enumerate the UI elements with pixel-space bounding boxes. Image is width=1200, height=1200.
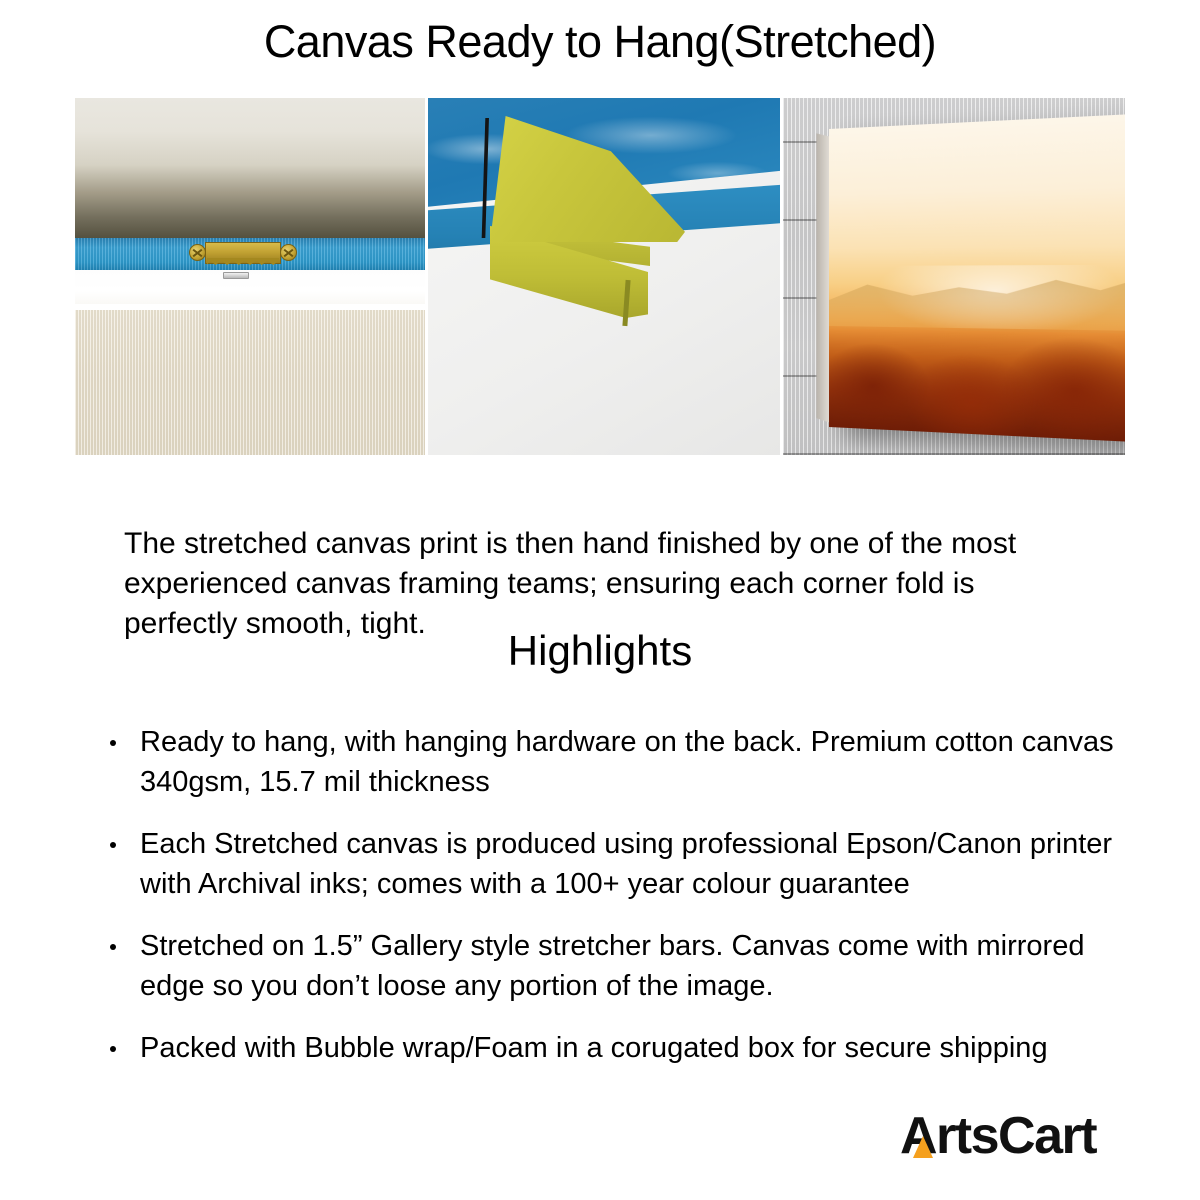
bullet-dot-icon xyxy=(110,842,116,848)
infographic-page: Canvas Ready to Hang(Stretched) xyxy=(0,0,1200,1200)
bullet-dot-icon xyxy=(110,1046,116,1052)
list-item-text: Packed with Bubble wrap/Foam in a coruga… xyxy=(140,1032,1048,1064)
bullet-dot-icon xyxy=(110,740,116,746)
list-item-text: Each Stretched canvas is produced using … xyxy=(140,828,1112,900)
artwork-foreground xyxy=(829,326,1125,442)
list-item: Packed with Bubble wrap/Foam in a coruga… xyxy=(104,1028,1114,1068)
triangle-accent-icon xyxy=(913,1136,933,1158)
hanging-hardware-photo xyxy=(75,98,425,455)
list-item-text: Ready to hang, with hanging hardware on … xyxy=(140,726,1114,798)
screw-icon-left xyxy=(189,244,206,261)
canvas-metal-clip xyxy=(223,272,249,279)
canvas-artwork-face xyxy=(829,114,1125,441)
sawtooth-hanger-icon xyxy=(187,240,299,267)
list-item: Stretched on 1.5” Gallery style stretche… xyxy=(104,926,1114,1006)
mounted-canvas xyxy=(829,114,1125,441)
canvas-back-surface xyxy=(75,310,425,455)
artwork-hills xyxy=(829,268,1125,333)
highlights-heading: Highlights xyxy=(0,627,1200,675)
highlights-list: Ready to hang, with hanging hardware on … xyxy=(104,722,1114,1090)
corner-fold-photo xyxy=(428,98,780,455)
list-item: Each Stretched canvas is produced using … xyxy=(104,824,1114,904)
screw-icon-right xyxy=(280,244,297,261)
mounted-canvas-photo xyxy=(783,98,1125,455)
list-item-text: Stretched on 1.5” Gallery style stretche… xyxy=(140,930,1084,1002)
photo-background-gradient xyxy=(75,98,425,250)
product-image-strip xyxy=(75,98,1125,455)
description-paragraph: The stretched canvas print is then hand … xyxy=(124,524,1074,644)
list-item: Ready to hang, with hanging hardware on … xyxy=(104,722,1114,802)
bullet-dot-icon xyxy=(110,944,116,950)
brand-logo: ArtsCart xyxy=(900,1108,1096,1164)
page-title: Canvas Ready to Hang(Stretched) xyxy=(0,16,1200,68)
